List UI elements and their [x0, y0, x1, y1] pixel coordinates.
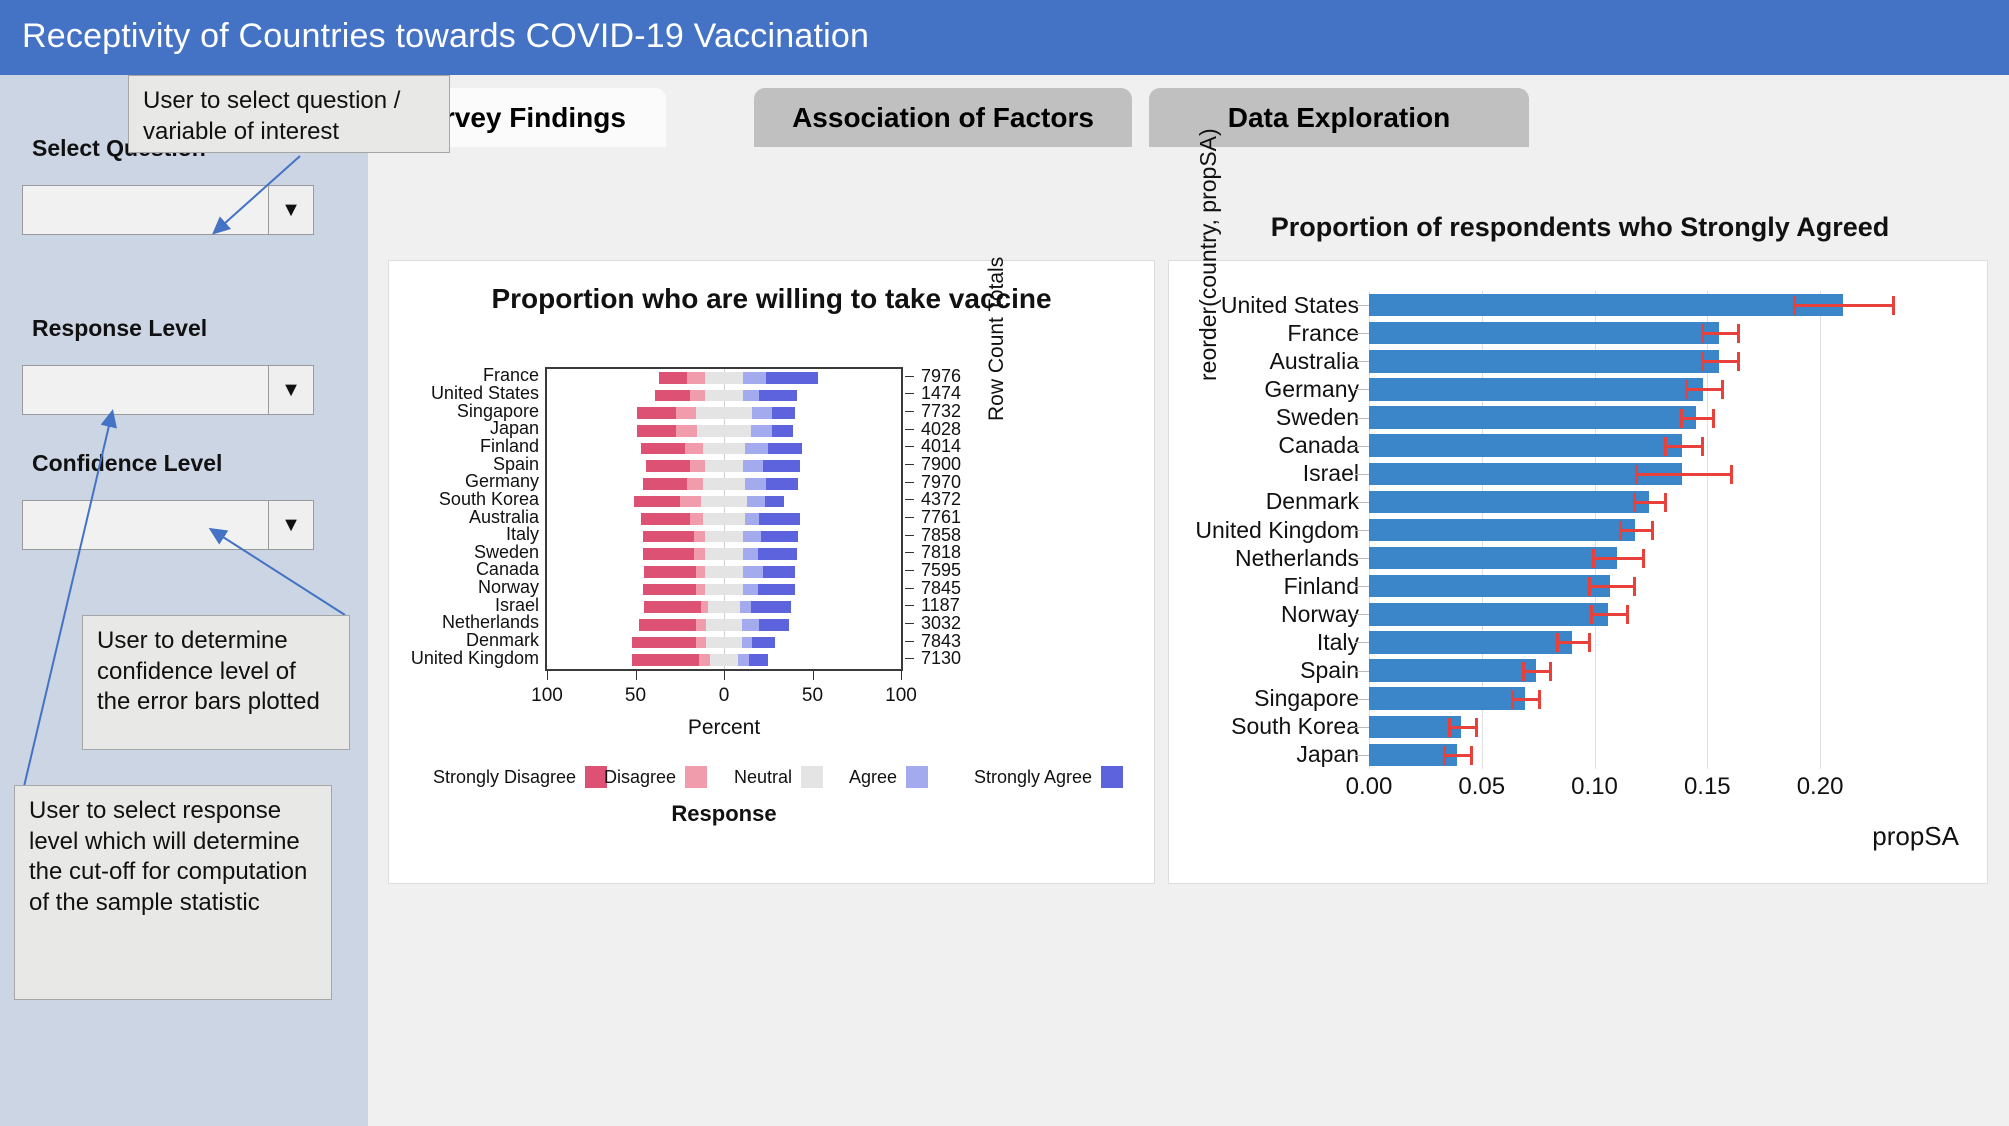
propsa-error-bar-cap — [1721, 380, 1724, 399]
likert-legend-item: Disagree — [604, 766, 707, 788]
likert-segment-neutral-right — [724, 390, 743, 402]
propsa-bar — [1369, 603, 1608, 625]
propsa-error-bar — [1635, 473, 1730, 476]
likert-segment-strongly-disagree — [632, 654, 699, 666]
propsa-error-bar — [1448, 726, 1475, 729]
likert-row-count-axis-label: Row Count Totals — [985, 257, 1009, 421]
propsa-category-label: Sweden — [1169, 404, 1359, 431]
likert-x-tick — [724, 671, 725, 680]
likert-x-tick-label: 0 — [719, 685, 730, 707]
likert-segment-strongly-disagree — [659, 372, 687, 384]
propsa-error-bar-cap — [1651, 521, 1654, 540]
likert-x-tick — [813, 671, 814, 680]
propsa-y-tick — [1355, 755, 1369, 756]
propsa-error-bar-cap — [1664, 493, 1667, 512]
likert-x-tick-label: 100 — [885, 685, 917, 707]
propsa-y-tick — [1355, 502, 1369, 503]
likert-count-tick — [905, 623, 914, 624]
likert-segment-neutral-left — [696, 407, 724, 419]
likert-segment-disagree — [701, 601, 708, 613]
likert-x-tick-label: 50 — [802, 685, 823, 707]
likert-segment-strongly-agree — [772, 407, 795, 419]
likert-row-count-axis: 7976147477324028401479007970437277617858… — [905, 367, 989, 671]
propsa-category-label: United Kingdom — [1169, 517, 1359, 544]
likert-segment-strongly-disagree — [643, 478, 687, 490]
select-question-input[interactable] — [23, 186, 268, 234]
likert-segment-disagree — [696, 619, 707, 631]
likert-legend-item: Neutral — [734, 766, 823, 788]
callout-response-level: User to select response level which will… — [14, 785, 332, 1000]
propsa-bar-row — [1369, 463, 1899, 485]
propsa-category-label: South Korea — [1169, 713, 1359, 740]
likert-count-tick — [905, 588, 914, 589]
likert-segment-neutral-right — [724, 637, 742, 649]
likert-segment-agree — [743, 531, 761, 543]
likert-segment-strongly-agree — [763, 460, 800, 472]
likert-legend-swatch — [1101, 766, 1123, 788]
likert-segment-neutral-left — [705, 390, 724, 402]
likert-segment-agree — [743, 372, 766, 384]
propsa-error-bar-cap — [1737, 352, 1740, 371]
propsa-category-label: United States — [1169, 292, 1359, 319]
propsa-error-bar-cap — [1701, 437, 1704, 456]
propsa-y-tick — [1355, 418, 1369, 419]
likert-x-tick — [636, 671, 637, 680]
propsa-error-bar-cap — [1511, 690, 1514, 709]
propsa-x-tick-label: 0.00 — [1346, 773, 1393, 801]
likert-count-tick — [905, 499, 914, 500]
propsa-bar — [1369, 547, 1617, 569]
propsa-bar-row — [1369, 491, 1899, 513]
likert-segment-neutral-left — [703, 478, 724, 490]
likert-segment-strongly-disagree — [641, 513, 691, 525]
likert-segment-strongly-agree — [758, 548, 797, 560]
likert-segment-strongly-agree — [759, 619, 789, 631]
likert-segment-strongly-agree — [761, 531, 798, 543]
propsa-bar-row — [1369, 575, 1899, 597]
likert-segment-neutral-right — [724, 654, 738, 666]
propsa-category-label: Denmark — [1169, 488, 1359, 515]
propsa-y-tick — [1355, 389, 1369, 390]
propsa-bar — [1369, 322, 1719, 344]
propsa-error-bar-cap — [1443, 746, 1446, 765]
likert-x-tick — [547, 671, 548, 680]
propsa-category-label: Italy — [1169, 629, 1359, 656]
propsa-bar-row — [1369, 294, 1899, 316]
likert-segment-neutral-right — [724, 531, 743, 543]
propsa-error-bar — [1793, 304, 1892, 307]
likert-segment-neutral-left — [703, 513, 724, 525]
likert-count-tick — [905, 411, 914, 412]
likert-segment-neutral-left — [706, 637, 724, 649]
likert-segment-disagree — [676, 407, 695, 419]
response-level-dropdown[interactable]: ▼ — [22, 365, 314, 415]
propsa-category-label: France — [1169, 320, 1359, 347]
likert-segment-agree — [752, 407, 771, 419]
likert-segment-strongly-disagree — [639, 619, 696, 631]
propsa-error-bar — [1633, 501, 1665, 504]
propsa-error-bar-cap — [1664, 437, 1667, 456]
confidence-level-dropdown[interactable]: ▼ — [22, 500, 314, 550]
propsa-chart-title: Proportion of respondents who Strongly A… — [1190, 212, 1970, 243]
likert-segment-agree — [742, 619, 760, 631]
propsa-error-bar-cap — [1475, 718, 1478, 737]
likert-segment-neutral-left — [705, 584, 724, 596]
propsa-category-label: Spain — [1169, 657, 1359, 684]
propsa-bar-row — [1369, 406, 1899, 428]
likert-chart: Proportion who are willing to take vacci… — [389, 261, 1154, 883]
propsa-chart: reorder(country, propSA) 0.000.050.100.1… — [1169, 261, 1987, 883]
propsa-error-bar-cap — [1633, 493, 1636, 512]
propsa-y-tick — [1355, 474, 1369, 475]
propsa-error-bar-cap — [1712, 409, 1715, 428]
likert-segment-strongly-agree — [772, 425, 793, 437]
likert-count-tick — [905, 446, 914, 447]
propsa-error-bar — [1664, 445, 1700, 448]
select-question-dropdown[interactable]: ▼ — [22, 185, 314, 235]
propsa-error-bar — [1619, 529, 1651, 532]
likert-count-tick — [905, 517, 914, 518]
chevron-down-icon[interactable]: ▼ — [268, 501, 313, 549]
likert-segment-agree — [751, 425, 772, 437]
tab-association-of-factors[interactable]: Association of Factors — [754, 88, 1132, 147]
likert-segment-strongly-agree — [763, 566, 795, 578]
propsa-bar — [1369, 519, 1635, 541]
propsa-error-bar-cap — [1737, 324, 1740, 343]
likert-segment-agree — [745, 478, 766, 490]
propsa-y-tick — [1355, 446, 1369, 447]
propsa-error-bar — [1522, 670, 1549, 673]
propsa-error-bar — [1588, 585, 1633, 588]
propsa-error-bar — [1680, 417, 1712, 420]
propsa-bar — [1369, 575, 1610, 597]
likert-count-tick — [905, 376, 914, 377]
propsa-bar — [1369, 294, 1843, 316]
likert-legend-item: Strongly Disagree — [433, 766, 607, 788]
likert-segment-disagree — [694, 548, 705, 560]
confidence-level-label: Confidence Level — [32, 450, 222, 477]
propsa-error-bar-cap — [1590, 605, 1593, 624]
propsa-error-bar-cap — [1522, 662, 1525, 681]
likert-segment-neutral-right — [724, 601, 740, 613]
likert-segment-disagree — [696, 566, 705, 578]
propsa-bar — [1369, 659, 1536, 681]
likert-legend-title: Response — [389, 801, 1059, 827]
callout-select-question: User to select question / variable of in… — [128, 75, 450, 153]
likert-segment-strongly-agree — [768, 443, 802, 455]
likert-legend-swatch — [906, 766, 928, 788]
likert-segment-strongly-disagree — [643, 548, 694, 560]
likert-x-axis: 10050050100 — [545, 671, 903, 717]
likert-segment-neutral-right — [724, 443, 745, 455]
likert-chart-panel: Proportion who are willing to take vacci… — [388, 260, 1155, 884]
propsa-bar — [1369, 631, 1572, 653]
app-header: Receptivity of Countries towards COVID-1… — [0, 0, 2009, 75]
propsa-bar-row — [1369, 350, 1899, 372]
propsa-bar — [1369, 687, 1525, 709]
likert-segment-disagree — [680, 496, 701, 508]
likert-segment-strongly-agree — [759, 390, 796, 402]
propsa-x-tick-label: 0.15 — [1684, 773, 1731, 801]
likert-segment-disagree — [676, 425, 697, 437]
likert-segment-disagree — [694, 531, 705, 543]
likert-segment-disagree — [690, 460, 704, 472]
propsa-x-axis: 0.000.050.100.150.20 — [1369, 773, 1899, 813]
propsa-error-bar-cap — [1588, 577, 1591, 596]
propsa-y-tick — [1355, 530, 1369, 531]
response-level-label: Response Level — [32, 315, 207, 342]
likert-segment-neutral-right — [724, 513, 745, 525]
likert-legend-label: Strongly Agree — [974, 767, 1092, 788]
propsa-category-label: Israel — [1169, 460, 1359, 487]
propsa-x-tick-label: 0.05 — [1458, 773, 1505, 801]
likert-segment-strongly-disagree — [644, 601, 701, 613]
likert-segment-disagree — [690, 390, 704, 402]
likert-segment-strongly-disagree — [643, 531, 694, 543]
likert-segment-neutral-left — [705, 531, 724, 543]
propsa-bar-row — [1369, 547, 1899, 569]
propsa-bar-row — [1369, 744, 1899, 766]
propsa-y-tick — [1355, 727, 1369, 728]
propsa-error-bar — [1443, 754, 1470, 757]
likert-segment-neutral-left — [701, 496, 724, 508]
propsa-error-bar-cap — [1642, 549, 1645, 568]
propsa-error-bar — [1701, 360, 1737, 363]
propsa-y-tick — [1355, 361, 1369, 362]
likert-segment-neutral-right — [724, 478, 745, 490]
propsa-y-tick — [1355, 586, 1369, 587]
likert-segment-agree — [742, 637, 753, 649]
propsa-bar-row — [1369, 434, 1899, 456]
likert-segment-strongly-agree — [765, 496, 784, 508]
propsa-category-label: Norway — [1169, 601, 1359, 628]
likert-segment-strongly-disagree — [644, 566, 695, 578]
likert-category-label: United Kingdom — [389, 648, 539, 669]
chevron-down-icon[interactable]: ▼ — [268, 186, 313, 234]
likert-legend-item: Agree — [849, 766, 928, 788]
propsa-error-bar-cap — [1619, 521, 1622, 540]
likert-segment-neutral-left — [705, 548, 724, 560]
likert-segment-strongly-disagree — [641, 443, 685, 455]
likert-segment-agree — [747, 496, 765, 508]
likert-segment-strongly-agree — [766, 478, 798, 490]
likert-segment-agree — [743, 548, 757, 560]
likert-segment-neutral-right — [724, 496, 747, 508]
likert-segment-strongly-disagree — [646, 460, 690, 472]
propsa-bar-row — [1369, 631, 1899, 653]
likert-segment-agree — [743, 460, 762, 472]
likert-segment-strongly-disagree — [637, 425, 676, 437]
likert-segment-neutral-left — [705, 372, 724, 384]
likert-segment-neutral-left — [706, 619, 724, 631]
likert-x-tick — [901, 671, 902, 680]
propsa-error-bar-cap — [1701, 324, 1704, 343]
chevron-down-icon[interactable]: ▼ — [268, 366, 313, 414]
likert-segment-disagree — [699, 654, 710, 666]
likert-count-tick — [905, 570, 914, 571]
likert-legend-swatch — [685, 766, 707, 788]
propsa-bar — [1369, 406, 1696, 428]
propsa-error-bar-cap — [1633, 577, 1636, 596]
likert-segment-neutral-right — [724, 548, 743, 560]
propsa-error-bar-cap — [1730, 465, 1733, 484]
likert-segment-disagree — [687, 478, 703, 490]
propsa-y-tick — [1355, 614, 1369, 615]
likert-segment-neutral-left — [705, 460, 724, 472]
propsa-bar — [1369, 378, 1703, 400]
likert-count-tick — [905, 658, 914, 659]
propsa-error-bar-cap — [1626, 605, 1629, 624]
likert-segment-neutral-left — [697, 425, 724, 437]
likert-segment-neutral-right — [724, 460, 743, 472]
propsa-error-bar-cap — [1556, 633, 1559, 652]
response-level-input[interactable] — [23, 366, 268, 414]
likert-segment-neutral-right — [724, 407, 752, 419]
likert-segment-strongly-agree — [752, 637, 775, 649]
likert-legend-swatch — [801, 766, 823, 788]
propsa-category-label: Australia — [1169, 348, 1359, 375]
likert-legend-label: Disagree — [604, 767, 676, 788]
likert-plot-area — [545, 367, 903, 671]
propsa-bar-row — [1369, 378, 1899, 400]
propsa-error-bar-cap — [1470, 746, 1473, 765]
likert-segment-agree — [745, 443, 768, 455]
propsa-y-tick — [1355, 642, 1369, 643]
propsa-error-bar-cap — [1549, 662, 1552, 681]
propsa-y-tick — [1355, 558, 1369, 559]
propsa-bar-row — [1369, 687, 1899, 709]
likert-segment-strongly-agree — [758, 584, 795, 596]
likert-count-tick — [905, 429, 914, 430]
likert-segment-neutral-left — [705, 566, 724, 578]
likert-segment-neutral-left — [703, 443, 724, 455]
propsa-error-bar — [1685, 388, 1721, 391]
likert-segment-neutral-right — [724, 425, 751, 437]
likert-segment-agree — [743, 566, 762, 578]
propsa-x-tick-label: 0.20 — [1797, 773, 1844, 801]
likert-segment-strongly-agree — [751, 601, 792, 613]
propsa-bar — [1369, 491, 1649, 513]
propsa-bar — [1369, 350, 1719, 372]
confidence-level-input[interactable] — [23, 501, 268, 549]
likert-segment-strongly-disagree — [632, 637, 696, 649]
likert-segment-agree — [738, 654, 749, 666]
propsa-category-label: Finland — [1169, 573, 1359, 600]
propsa-error-bar — [1590, 613, 1626, 616]
propsa-bar-row — [1369, 659, 1899, 681]
propsa-error-bar-cap — [1701, 352, 1704, 371]
page-title: Receptivity of Countries towards COVID-1… — [22, 17, 869, 56]
likert-legend-item: Strongly Agree — [974, 766, 1123, 788]
likert-segment-neutral-right — [724, 372, 743, 384]
propsa-bar-row — [1369, 603, 1899, 625]
propsa-error-bar — [1592, 557, 1642, 560]
likert-segment-strongly-disagree — [637, 407, 676, 419]
likert-segment-strongly-disagree — [655, 390, 690, 402]
likert-legend-label: Agree — [849, 767, 897, 788]
likert-x-tick-label: 50 — [625, 685, 646, 707]
propsa-error-bar-cap — [1685, 380, 1688, 399]
propsa-error-bar — [1511, 698, 1538, 701]
likert-legend-label: Strongly Disagree — [433, 767, 576, 788]
propsa-error-bar-cap — [1635, 465, 1638, 484]
likert-segment-disagree — [685, 443, 703, 455]
likert-count-tick — [905, 535, 914, 536]
propsa-y-tick — [1355, 305, 1369, 306]
likert-count-tick — [905, 641, 914, 642]
likert-segment-disagree — [696, 584, 705, 596]
propsa-error-bar — [1701, 332, 1737, 335]
likert-chart-title: Proportion who are willing to take vacci… — [389, 283, 1154, 315]
propsa-category-label: Netherlands — [1169, 545, 1359, 572]
likert-segment-neutral-left — [710, 654, 724, 666]
likert-x-tick-label: 100 — [531, 685, 563, 707]
likert-count-tick — [905, 605, 914, 606]
tab-bar: Survey Findings Association of Factors D… — [368, 75, 2009, 147]
likert-count-tick — [905, 482, 914, 483]
propsa-y-tick — [1355, 671, 1369, 672]
likert-segment-neutral-right — [724, 619, 742, 631]
likert-segment-strongly-disagree — [643, 584, 696, 596]
likert-segment-disagree — [687, 372, 705, 384]
propsa-y-tick — [1355, 333, 1369, 334]
propsa-error-bar-cap — [1588, 633, 1591, 652]
likert-segment-strongly-agree — [759, 513, 800, 525]
likert-segment-strongly-disagree — [634, 496, 680, 508]
likert-count-tick — [905, 552, 914, 553]
likert-segment-agree — [743, 390, 759, 402]
propsa-bar-row — [1369, 322, 1899, 344]
propsa-x-tick-label: 0.10 — [1571, 773, 1618, 801]
likert-segment-strongly-agree — [749, 654, 768, 666]
likert-row-count-value: 7130 — [921, 648, 991, 669]
likert-count-tick — [905, 464, 914, 465]
propsa-bar — [1369, 434, 1682, 456]
likert-x-axis-label: Percent — [389, 716, 1059, 740]
propsa-category-label: Germany — [1169, 376, 1359, 403]
propsa-category-label: Japan — [1169, 741, 1359, 768]
propsa-plot-area — [1369, 291, 1899, 769]
likert-segment-disagree — [696, 637, 707, 649]
propsa-y-tick — [1355, 699, 1369, 700]
propsa-category-label: Singapore — [1169, 685, 1359, 712]
propsa-error-bar — [1556, 641, 1588, 644]
propsa-x-axis-label: propSA — [1169, 821, 1959, 852]
likert-segment-agree — [743, 584, 757, 596]
propsa-bar-row — [1369, 716, 1899, 738]
likert-segment-agree — [740, 601, 751, 613]
likert-segment-neutral-right — [724, 584, 743, 596]
likert-segment-disagree — [690, 513, 702, 525]
propsa-error-bar-cap — [1793, 296, 1796, 315]
propsa-error-bar-cap — [1448, 718, 1451, 737]
likert-segment-neutral-left — [708, 601, 724, 613]
propsa-error-bar-cap — [1538, 690, 1541, 709]
likert-legend: Strongly DisagreeDisagreeNeutralAgreeStr… — [389, 766, 1154, 796]
likert-count-tick — [905, 393, 914, 394]
propsa-error-bar-cap — [1680, 409, 1683, 428]
likert-legend-label: Neutral — [734, 767, 792, 788]
callout-confidence-level: User to determine confidence level of th… — [82, 615, 350, 750]
propsa-error-bar-cap — [1592, 549, 1595, 568]
propsa-category-label: Canada — [1169, 432, 1359, 459]
likert-segment-agree — [745, 513, 759, 525]
propsa-bar-row — [1369, 519, 1899, 541]
propsa-chart-panel: reorder(country, propSA) 0.000.050.100.1… — [1168, 260, 1988, 884]
likert-segment-neutral-right — [724, 566, 743, 578]
propsa-error-bar-cap — [1892, 296, 1895, 315]
likert-segment-strongly-agree — [766, 372, 817, 384]
